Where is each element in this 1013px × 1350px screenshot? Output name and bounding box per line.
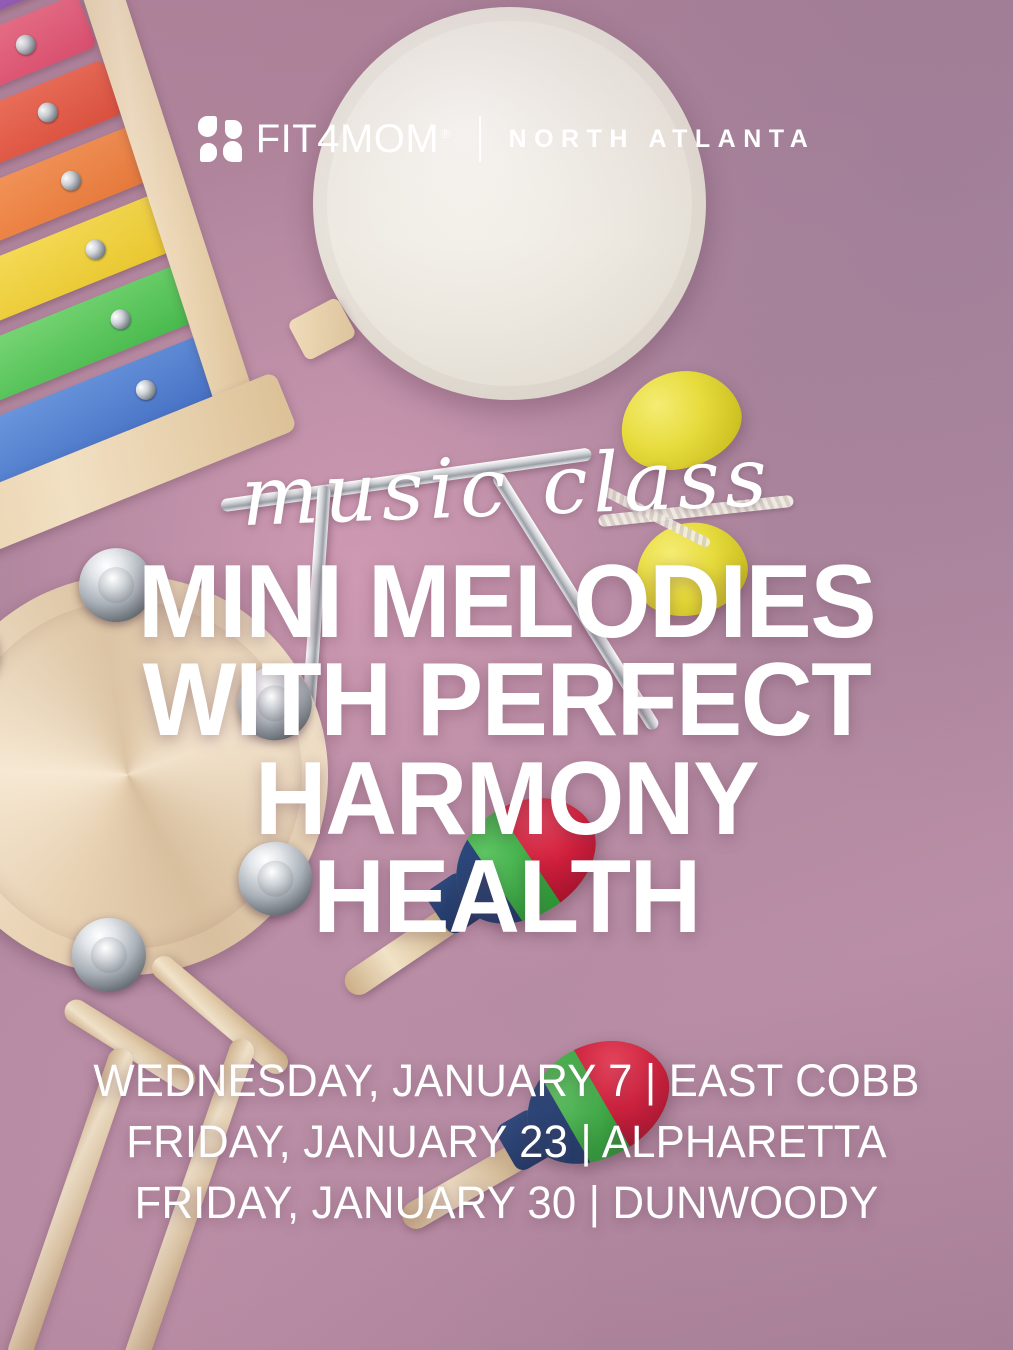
- brand-lockup: FIT4MOM® NORTH ATLANTA: [0, 116, 1013, 162]
- fit4mom-petal-logo-icon: [198, 116, 242, 162]
- headline-line-3: HARMONY: [23, 750, 990, 848]
- schedule-item: FRIDAY, JANUARY 23 | ALPHARETTA: [15, 1111, 998, 1172]
- poster-canvas: FIT4MOM® NORTH ATLANTA music class MINI …: [0, 0, 1013, 1350]
- lockup-divider: [479, 116, 481, 162]
- poster-content: FIT4MOM® NORTH ATLANTA music class MINI …: [0, 0, 1013, 1350]
- location-name: NORTH ATLANTA: [509, 127, 816, 152]
- schedule-item: WEDNESDAY, JANUARY 7 | EAST COBB: [15, 1050, 998, 1111]
- schedule-list: WEDNESDAY, JANUARY 7 | EAST COBB FRIDAY,…: [15, 1050, 998, 1234]
- brand-name: FIT4MOM: [256, 117, 439, 161]
- registered-mark: ®: [441, 127, 450, 141]
- eyebrow-script: music class: [0, 428, 1013, 549]
- headline-line-4: HEALTH: [23, 848, 990, 946]
- headline-line-2: WITH PERFECT: [23, 651, 990, 749]
- brand-wordmark: FIT4MOM®: [256, 119, 451, 159]
- headline-line-1: MINI MELODIES: [23, 553, 990, 651]
- schedule-item: FRIDAY, JANUARY 30 | DUNWOODY: [15, 1172, 998, 1233]
- page-title: MINI MELODIES WITH PERFECT HARMONY HEALT…: [23, 553, 990, 946]
